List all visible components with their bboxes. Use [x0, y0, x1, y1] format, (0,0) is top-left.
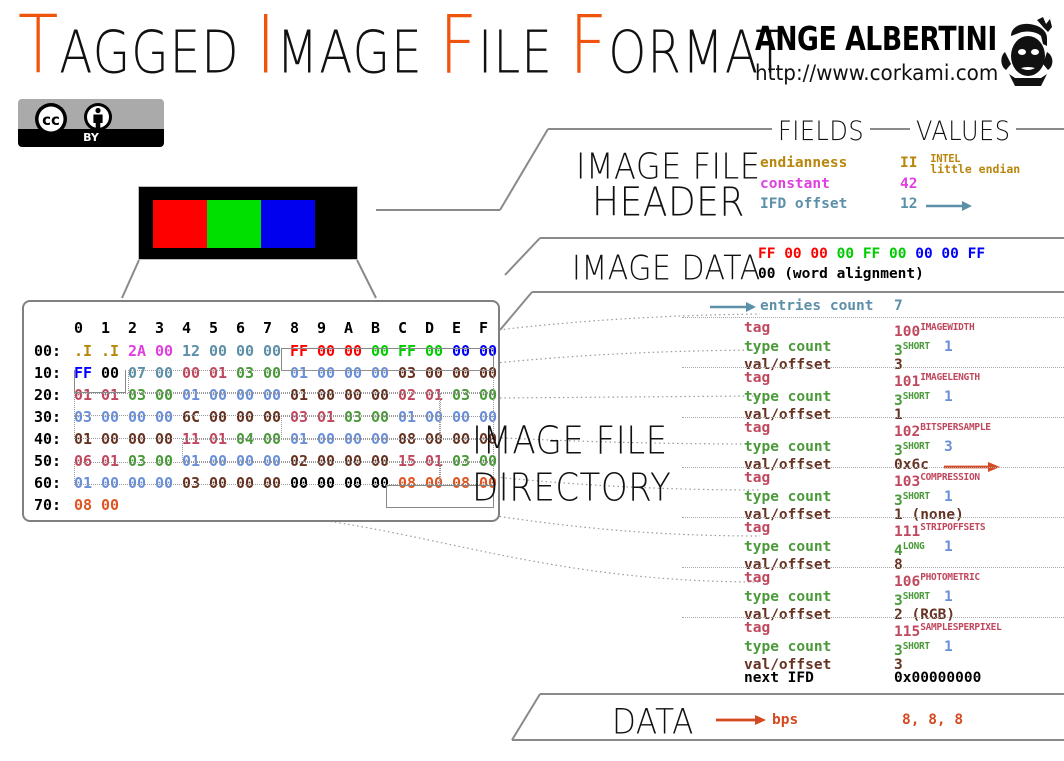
- hexdump-byte: 00: [425, 340, 452, 362]
- hexdump-byte: 01: [209, 362, 236, 384]
- hexdump-byte: FF: [398, 340, 425, 362]
- ifd-label-type-count: type count: [744, 638, 831, 657]
- hexdump-byte: 00: [236, 340, 263, 362]
- section-image-data: IMAGE DATA FF 00 00 00 FF 00 00 00 FF 00…: [540, 237, 1064, 293]
- hexdump-byte: 03: [128, 384, 155, 406]
- hexdump-row: 60:01000000030000000000000008000800: [34, 472, 506, 494]
- hexdump-col-5: 5: [209, 316, 236, 340]
- header-title-line2: HEADER: [592, 182, 745, 223]
- hexdump-col-C: C: [398, 316, 425, 340]
- hexdump-byte: 00: [182, 362, 209, 384]
- ifd-entry: tag100IMAGEWIDTHtype count3SHORT1val/off…: [532, 317, 1064, 367]
- ifd-entry-separator: [682, 467, 1064, 468]
- hexdump-byte: 03: [74, 406, 101, 428]
- image-data-byte: 00: [889, 246, 915, 262]
- hexdump-byte: 12: [182, 340, 209, 362]
- ifd-entry-separator: [682, 417, 1064, 418]
- hexdump-byte: 00: [290, 472, 317, 494]
- title-word-2: ILE: [478, 18, 569, 86]
- svg-text:cc: cc: [42, 111, 60, 129]
- hexdump-rows: 00:.I.I2A0012000000FF000000FF00000010:FF…: [34, 340, 506, 516]
- hexdump-byte: 00: [263, 362, 290, 384]
- hexdump-byte: 00: [128, 428, 155, 450]
- ifd-type-name: SHORT: [903, 641, 930, 652]
- ifd-label-tag: tag: [744, 469, 770, 488]
- ifd-entry-separator: [682, 517, 1064, 518]
- hexdump-byte: 00: [371, 406, 398, 428]
- ifd-value-count: 3: [944, 438, 953, 457]
- hexdump-byte: 00: [452, 340, 479, 362]
- hexdump-byte: 00: [155, 450, 182, 472]
- hexdump-byte: 01: [209, 428, 236, 450]
- hexdump-byte: 01: [425, 384, 452, 406]
- hexdump-byte: 00: [425, 428, 452, 450]
- ifd-label-type-count: type count: [744, 588, 831, 607]
- ifd-label-type-count: type count: [744, 538, 831, 557]
- ifd-tag-name: PHOTOMETRIC: [920, 572, 980, 583]
- hexdump-byte: 01: [425, 450, 452, 472]
- hexdump-byte: 01: [182, 450, 209, 472]
- hexdump-row: 70:0800: [34, 494, 506, 516]
- hexdump-byte: 00: [425, 472, 452, 494]
- hexdump-byte: .I: [101, 340, 128, 362]
- hexdump-byte: 00: [371, 384, 398, 406]
- hexdump-row: 40:01000000110104000100000008000000: [34, 428, 506, 450]
- header-field-constant: constant: [760, 175, 830, 194]
- ifd-entry: tag101IMAGELENGTHtype count3SHORT1val/of…: [532, 367, 1064, 417]
- hexdump-row: 50:06010300010000000200000015010300: [34, 450, 506, 472]
- hexdump-byte: 01: [290, 362, 317, 384]
- ifd-entry: tag103COMPRESSIONtype count3SHORT1val/of…: [532, 467, 1064, 517]
- ifd-entry-separator: [682, 317, 1064, 318]
- hexdump-byte: 03: [182, 472, 209, 494]
- hexdump-byte: 00: [155, 428, 182, 450]
- hexdump-byte: 00: [209, 450, 236, 472]
- hexdump-byte: 00: [101, 406, 128, 428]
- ifd-type-name: SHORT: [903, 591, 930, 602]
- hexdump-byte: 01: [101, 384, 128, 406]
- hexdump-row: 20:01010300010000000100000002010300: [34, 384, 506, 406]
- hexdump-byte: 00: [209, 340, 236, 362]
- image-data-byte: 00: [810, 246, 836, 262]
- hexdump-col-2: 2: [128, 316, 155, 340]
- attribution-person-icon: [81, 102, 115, 132]
- hexdump-byte: 00: [236, 406, 263, 428]
- hexdump-col-9: 9: [317, 316, 344, 340]
- hexdump-byte: 00: [155, 340, 182, 362]
- ifd-value-count: 1: [944, 638, 953, 657]
- hexdump-byte: 00: [344, 384, 371, 406]
- hexdump-panel: 0123456789ABCDEF 00:.I.I2A0012000000FF00…: [22, 300, 500, 522]
- hexdump-row-offset: 00:: [34, 340, 74, 362]
- hexdump-byte: 00: [128, 472, 155, 494]
- entries-count-value: 7: [894, 297, 903, 316]
- hexdump-byte: 00: [425, 406, 452, 428]
- hexdump-byte: .I: [74, 340, 101, 362]
- hexdump-col-4: 4: [182, 316, 209, 340]
- title-cap-1: I: [256, 0, 276, 93]
- hexdump-byte: 00: [344, 472, 371, 494]
- hexdump-byte: 00: [155, 406, 182, 428]
- hexdump-row: 30:030000006C0000000301030001000000: [34, 406, 506, 428]
- author-name: ANGE ALBERTINI: [755, 22, 1031, 56]
- hexdump-byte: 02: [290, 450, 317, 472]
- hexdump-row-offset: 30:: [34, 406, 74, 428]
- hexdump-col-E: E: [452, 316, 479, 340]
- hexdump-row-offset: 10:: [34, 362, 74, 384]
- hexdump-byte: 01: [290, 428, 317, 450]
- header-field-endianness: endianness: [760, 154, 847, 173]
- hexdump-byte: FF: [74, 362, 101, 384]
- hexdump-byte: 00: [209, 406, 236, 428]
- ifd-entry: tag115SAMPLESPERPIXELtype count3SHORT1va…: [532, 617, 1064, 667]
- hexdump-byte: 06: [74, 450, 101, 472]
- title-word-1: MAGE: [276, 18, 439, 86]
- title-cap-2: F: [439, 0, 478, 93]
- ifd-entry: tag111STRIPOFFSETStype count4LONG1val/of…: [532, 517, 1064, 567]
- hexdump-byte: 00: [209, 384, 236, 406]
- ifd-value-count: 1: [944, 588, 953, 607]
- ifd-label-tag: tag: [744, 569, 770, 588]
- hexdump-byte: 01: [398, 406, 425, 428]
- hexdump-byte: 6C: [182, 406, 209, 428]
- title-cap-3: F: [569, 0, 608, 93]
- ifd-type-name: LONG: [903, 541, 925, 552]
- header-value-constant: 42: [900, 175, 917, 194]
- hexdump-byte: 00: [317, 472, 344, 494]
- section-image-file-header: FIELDS VALUES IMAGE FILE HEADER endianne…: [548, 128, 1064, 238]
- hexdump-byte: 01: [317, 406, 344, 428]
- ifd-value-count: 1: [944, 538, 953, 557]
- ifd-label-type-count: type count: [744, 388, 831, 407]
- hexdump-col-A: A: [344, 316, 371, 340]
- hexdump-byte: 00: [101, 494, 128, 516]
- ifd-entry-separator: [682, 617, 1064, 618]
- hexdump-byte: 00: [317, 450, 344, 472]
- ifd-label-tag: tag: [744, 369, 770, 388]
- header-field-ifd-offset: IFD offset: [760, 195, 847, 214]
- hexdump-byte: 00: [371, 340, 398, 362]
- hexdump-byte: 00: [263, 406, 290, 428]
- image-data-byte: FF: [863, 246, 889, 262]
- image-data-byte: FF: [758, 246, 784, 262]
- hexdump-byte: 00: [209, 472, 236, 494]
- hexdump-byte: 00: [155, 362, 182, 384]
- hexdump-byte: 00: [236, 450, 263, 472]
- title-cap-0: T: [18, 0, 59, 93]
- author-block: ANGE ALBERTINI http://www.corkami.com: [755, 22, 1055, 94]
- stripe-blue: [261, 200, 315, 248]
- image-data-byte: 00: [941, 246, 967, 262]
- hexdump-byte: 00: [479, 362, 506, 384]
- hexdump-row-offset: 70:: [34, 494, 74, 516]
- hexdump-byte: 04: [236, 428, 263, 450]
- hexdump-col-F: F: [479, 316, 506, 340]
- ifd-label-type-count: type count: [744, 438, 831, 457]
- title-word-0: AGGED: [59, 18, 256, 86]
- hexdump-byte: 01: [74, 384, 101, 406]
- hexdump-col-7: 7: [263, 316, 290, 340]
- stripe-green: [207, 200, 261, 248]
- entries-count-label: entries count: [760, 297, 874, 316]
- hexdump-byte: 15: [398, 450, 425, 472]
- data-value-bps: 8, 8, 8: [902, 711, 963, 730]
- ifd-offset-arrow-icon: [926, 201, 972, 211]
- ifd-label-type-count: type count: [744, 338, 831, 357]
- hexdump-byte: 00: [344, 340, 371, 362]
- hexdump-byte: 00: [128, 406, 155, 428]
- values-column-header: VALUES: [910, 116, 1016, 147]
- ifd-entry-separator: [682, 567, 1064, 568]
- hexdump-byte: 00: [236, 384, 263, 406]
- hexdump-row-offset: 50:: [34, 450, 74, 472]
- cc-by-badge[interactable]: cc BY: [18, 99, 164, 147]
- hexdump-byte: 08: [398, 472, 425, 494]
- ifd-label-type-count: type count: [744, 488, 831, 507]
- hexdump-byte: 00: [263, 340, 290, 362]
- hexdump-byte: 00: [263, 472, 290, 494]
- hexdump-byte: 00: [371, 450, 398, 472]
- ifd-tag-name: BITSPERSAMPLE: [920, 422, 990, 433]
- ifd-entry: tag106PHOTOMETRICtype count3SHORT1val/of…: [532, 567, 1064, 617]
- section-image-file-directory: IMAGE FILE DIRECTORY entries count 7 tag…: [532, 291, 1064, 691]
- hexdump-byte: 03: [236, 362, 263, 384]
- bps-arrow-icon: [716, 715, 766, 725]
- hexdump-byte: 00: [371, 428, 398, 450]
- ifd-type-name: SHORT: [903, 391, 930, 402]
- ifd-value-count: 1: [944, 488, 953, 507]
- hexdump-byte: FF: [290, 340, 317, 362]
- image-data-byte: 00: [784, 246, 810, 262]
- rgb-sample-image: [138, 186, 358, 260]
- hexdump-byte: 00: [479, 340, 506, 362]
- ifd-type-name: SHORT: [903, 341, 930, 352]
- hexdump-column-headers: 0123456789ABCDEF: [34, 316, 506, 340]
- hexdump-byte: 11: [182, 428, 209, 450]
- image-data-bytes: FF 00 00 00 FF 00 00 00 FF: [758, 245, 985, 264]
- ifd-tag-name: IMAGEWIDTH: [920, 322, 974, 333]
- endianness-value: II: [900, 155, 917, 171]
- page-title: TAGGED IMAGE FILE FORMAT: [18, 10, 786, 89]
- hexdump-byte: 00: [317, 384, 344, 406]
- ifd-label-tag: tag: [744, 619, 770, 638]
- header-value-ifd-offset: 12: [900, 195, 917, 214]
- hexdump-byte: 03: [128, 450, 155, 472]
- hexdump-byte: 00: [371, 472, 398, 494]
- endianness-sub: little endian: [930, 164, 1020, 175]
- hexdump-byte: 00: [371, 362, 398, 384]
- section-data: DATA bps 8, 8, 8: [540, 693, 1064, 741]
- hexdump-byte: 00: [263, 428, 290, 450]
- hexdump-row-offset: 40:: [34, 428, 74, 450]
- hexdump-row: 00:.I.I2A0012000000FF000000FF000000: [34, 340, 506, 362]
- hexdump-byte: 00: [101, 472, 128, 494]
- hexdump-byte: 00: [344, 362, 371, 384]
- corkami-head-icon: [997, 16, 1059, 90]
- hexdump-byte: 00: [263, 384, 290, 406]
- ifd-tag-name: SAMPLESPERPIXEL: [920, 622, 1001, 633]
- ifd-label-tag: tag: [744, 519, 770, 538]
- hexdump-byte: 00: [344, 428, 371, 450]
- hexdump-row-offset: 60:: [34, 472, 74, 494]
- ifd-label-tag: tag: [744, 419, 770, 438]
- ifd-label-tag: tag: [744, 319, 770, 338]
- ifd-tag-name: STRIPOFFSETS: [920, 522, 985, 533]
- ifd-tag-name: IMAGELENGTH: [920, 372, 980, 383]
- image-data-alignment: 00 (word alignment): [758, 265, 924, 284]
- hexdump-byte: 01: [74, 428, 101, 450]
- hexdump-byte: 00: [344, 450, 371, 472]
- hexdump-byte: 00: [317, 428, 344, 450]
- hexdump-byte: 08: [74, 494, 101, 516]
- ifd-entry-separator: [682, 367, 1064, 368]
- hexdump-byte: 00: [452, 362, 479, 384]
- hexdump-row-offset: 20:: [34, 384, 74, 406]
- cc-by-label: BY: [18, 130, 164, 146]
- hexdump-byte: 03: [344, 406, 371, 428]
- hexdump-byte: 03: [290, 406, 317, 428]
- ifd-entry: tag102BITSPERSAMPLEtype count3SHORT3val/…: [532, 417, 1064, 467]
- hexdump-byte: 00: [101, 428, 128, 450]
- fields-column-header: FIELDS: [772, 116, 870, 147]
- hexdump-col-1: 1: [101, 316, 128, 340]
- ifd-value-count: 1: [944, 388, 953, 407]
- hexdump-byte: 03: [398, 362, 425, 384]
- hexdump-byte: 00: [155, 384, 182, 406]
- hexdump-col-8: 8: [290, 316, 317, 340]
- next-ifd-value: 0x00000000: [894, 669, 981, 688]
- entries-count-arrow-icon: [710, 302, 756, 312]
- image-data-title: IMAGE DATA: [572, 248, 761, 289]
- hexdump-col-B: B: [371, 316, 398, 340]
- image-data-byte: 00: [915, 246, 941, 262]
- data-title: DATA: [612, 702, 694, 743]
- hexdump-byte: 00: [101, 362, 128, 384]
- image-data-byte: FF: [968, 246, 985, 262]
- hexdump-byte: 00: [425, 362, 452, 384]
- hexdump-byte: 2A: [128, 340, 155, 362]
- hexdump-byte: 01: [182, 384, 209, 406]
- ifd-type-name: SHORT: [903, 441, 930, 452]
- hexdump-byte: 00: [317, 362, 344, 384]
- hexdump-byte: 02: [398, 384, 425, 406]
- hexdump-byte: 00: [236, 472, 263, 494]
- image-data-byte: 00: [837, 246, 863, 262]
- hexdump-byte: 00: [263, 450, 290, 472]
- hexdump-col-3: 3: [155, 316, 182, 340]
- hexdump-byte: 01: [74, 472, 101, 494]
- hexdump-byte: 00: [317, 340, 344, 362]
- ifd-tag-name: COMPRESSION: [920, 472, 980, 483]
- hexdump-table: 0123456789ABCDEF 00:.I.I2A0012000000FF00…: [34, 316, 506, 516]
- hexdump-byte: 08: [398, 428, 425, 450]
- hexdump-col-0: 0: [74, 316, 101, 340]
- hexdump-col-D: D: [425, 316, 452, 340]
- hexdump-byte: 00: [155, 472, 182, 494]
- header-value-endianness: II INTEL little endian: [900, 154, 1020, 175]
- hexdump-byte: 01: [290, 384, 317, 406]
- ifd-value-count: 1: [944, 338, 953, 357]
- hexdump-byte: 07: [128, 362, 155, 384]
- hexdump-byte: 03: [452, 384, 479, 406]
- hexdump-byte: 00: [479, 384, 506, 406]
- hexdump-col-6: 6: [236, 316, 263, 340]
- data-field-bps: bps: [772, 711, 798, 730]
- hexdump-byte: 01: [101, 450, 128, 472]
- next-ifd-label: next IFD: [744, 669, 814, 688]
- stripe-red: [153, 200, 207, 248]
- hexdump-row: 10:FF000700000103000100000003000000: [34, 362, 506, 384]
- ifd-type-name: SHORT: [903, 491, 930, 502]
